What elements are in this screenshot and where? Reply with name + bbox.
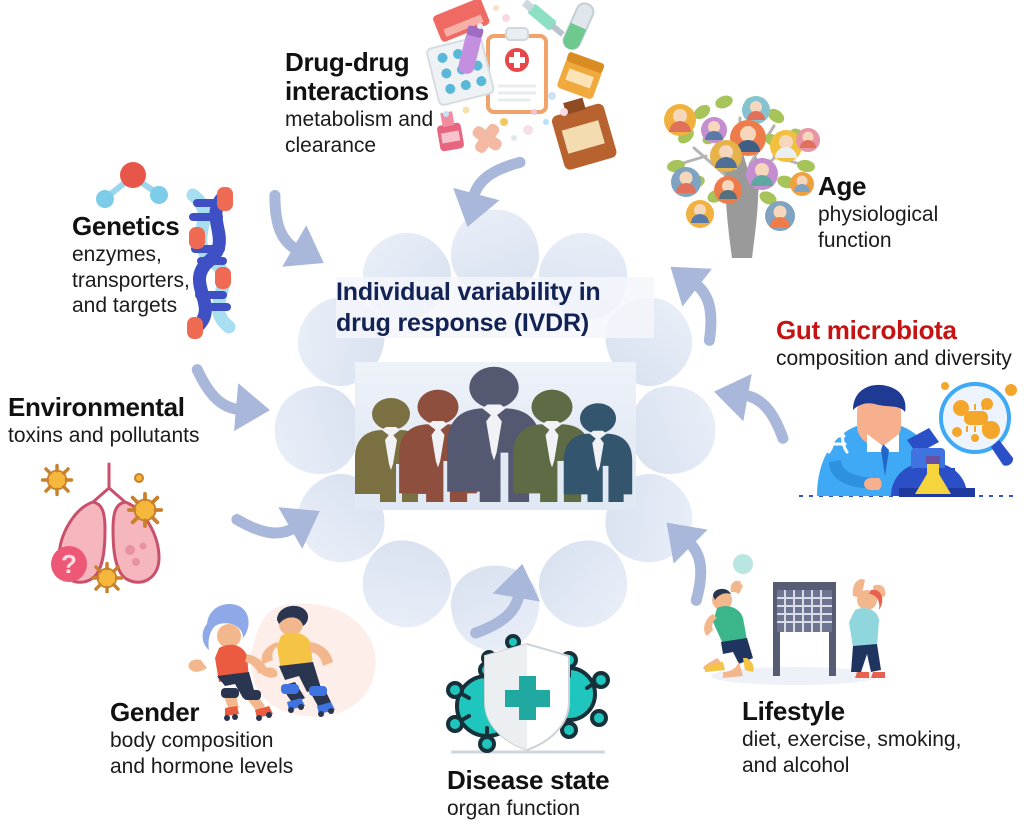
hub-people-group <box>0 0 1024 824</box>
hub-person <box>564 403 632 502</box>
label-genetics: Genetics enzymes, transporters, and targ… <box>72 212 242 319</box>
label-subtitle: enzymes, transporters, and targets <box>72 242 242 319</box>
label-title: Genetics <box>72 212 242 241</box>
diagram-canvas: Individual variability in drug response … <box>0 0 1024 824</box>
